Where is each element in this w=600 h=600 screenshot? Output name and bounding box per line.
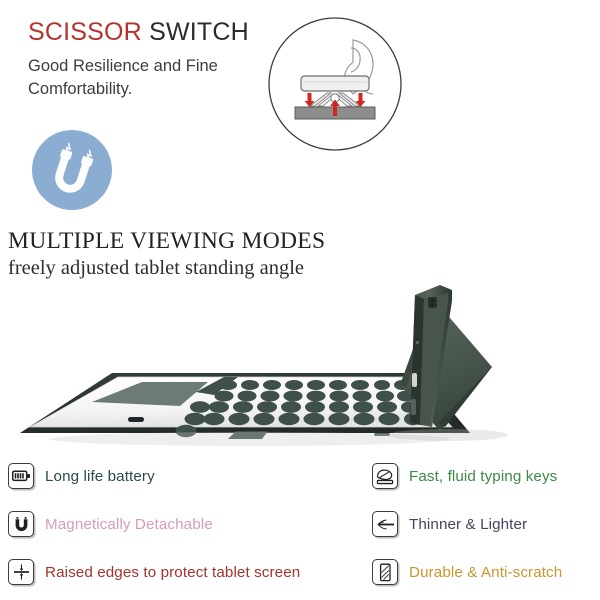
scissor-switch-cutaway-icon	[265, 14, 405, 154]
feature-label: Raised edges to protect tablet screen	[45, 564, 300, 581]
magnet-badge	[28, 126, 118, 216]
magnet-icon	[8, 511, 34, 537]
product-feature-infographic: SCISSOR SWITCH Good Resilience and Fine …	[0, 0, 600, 600]
scissor-switch-diagram	[265, 14, 405, 154]
page-title: SCISSOR SWITCH	[28, 18, 293, 48]
tablet-keyboard-case-illustration	[0, 255, 600, 455]
feature-grid: Long life battery Magnetically Detachabl…	[0, 452, 600, 600]
feature-row-raised-edges[interactable]: Raised edges to protect tablet screen	[8, 548, 308, 596]
raised-edges-icon	[8, 559, 34, 585]
viewing-modes-title: MULTIPLE VIEWING MODES	[8, 228, 358, 254]
feature-row-long-life-battery[interactable]: Long life battery	[8, 452, 308, 500]
feature-row-durable-anti-scratch[interactable]: Durable & Anti-scratch	[372, 548, 600, 596]
feature-column-left: Long life battery Magnetically Detachabl…	[8, 452, 308, 596]
thin-profile-icon	[372, 511, 398, 537]
product-photo	[0, 255, 600, 455]
keypress-icon	[372, 463, 398, 489]
feature-label: Fast, fluid typing keys	[409, 468, 557, 485]
feature-label: Thinner & Lighter	[409, 516, 527, 533]
page-title-rest: SWITCH	[142, 18, 249, 46]
feature-label: Durable & Anti-scratch	[409, 564, 562, 581]
feature-row-thinner-lighter[interactable]: Thinner & Lighter	[372, 500, 600, 548]
feature-label: Long life battery	[45, 468, 155, 485]
anti-scratch-icon	[372, 559, 398, 585]
page-subtitle: Good Resilience and Fine Comfortability.	[28, 55, 260, 102]
feature-column-right: Fast, fluid typing keys Thinner & Lighte…	[372, 452, 600, 596]
feature-row-magnetically-detachable[interactable]: Magnetically Detachable	[8, 500, 308, 548]
headline-block: SCISSOR SWITCH Good Resilience and Fine …	[28, 18, 293, 101]
battery-icon	[8, 463, 34, 489]
feature-row-fast-fluid-typing-keys[interactable]: Fast, fluid typing keys	[372, 452, 600, 500]
magnet-icon	[28, 126, 118, 216]
page-title-highlight: SCISSOR	[28, 18, 142, 46]
feature-label: Magnetically Detachable	[45, 516, 213, 533]
